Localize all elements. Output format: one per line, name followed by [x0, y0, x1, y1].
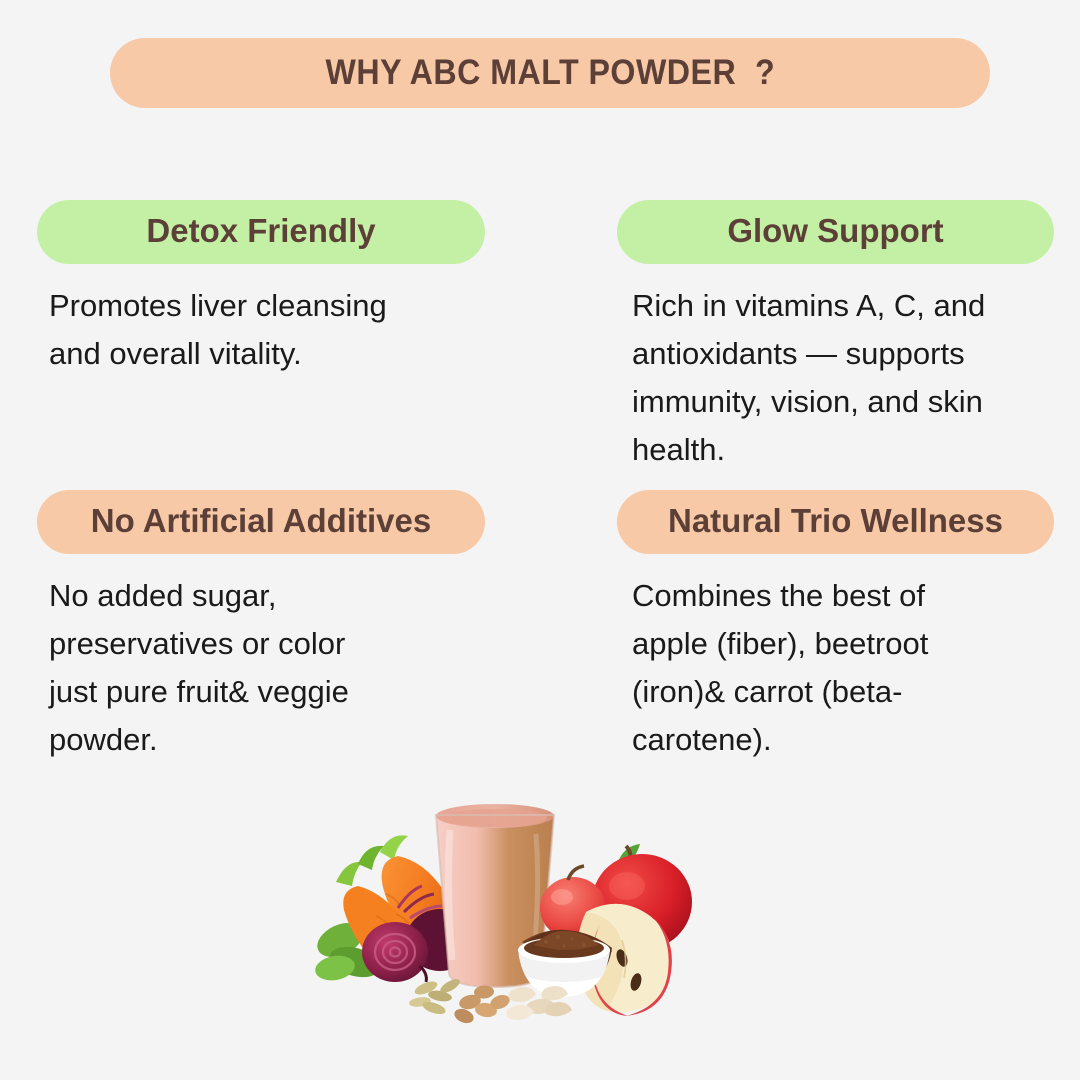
feature-card-natural-trio-wellness: Natural Trio Wellness Combines the best …	[617, 490, 1069, 764]
feature-card-detox-friendly: Detox Friendly Promotes liver cleansing …	[37, 200, 489, 378]
almonds-group	[452, 985, 511, 1026]
seeds-group	[408, 977, 461, 1017]
feature-card-no-artificial-additives: No Artificial Additives No added sugar, …	[37, 490, 489, 764]
feature-title-glow-support: Glow Support	[727, 212, 943, 249]
feature-pill-glow-support[interactable]: Glow Support	[617, 200, 1054, 264]
feature-title-no-artificial-additives: No Artificial Additives	[91, 502, 431, 539]
feature-title-natural-trio-wellness: Natural Trio Wellness	[668, 502, 1003, 539]
page-title: WHY ABC MALT POWDER ?	[325, 53, 775, 93]
feature-body-detox-friendly: Promotes liver cleansing and overall vit…	[37, 282, 479, 378]
feature-card-glow-support: Glow Support Rich in vitamins A, C, and …	[617, 200, 1069, 474]
feature-pill-natural-trio-wellness[interactable]: Natural Trio Wellness	[617, 490, 1054, 554]
header-banner: WHY ABC MALT POWDER ?	[110, 38, 990, 108]
feature-body-glow-support: Rich in vitamins A, C, and antioxidants …	[617, 282, 1062, 474]
feature-body-no-artificial-additives: No added sugar, preservatives or color j…	[37, 572, 479, 764]
feature-title-detox-friendly: Detox Friendly	[146, 212, 375, 249]
infographic-poster: WHY ABC MALT POWDER ? Detox Friendly Pro…	[0, 0, 1080, 1080]
feature-pill-no-artificial-additives[interactable]: No Artificial Additives	[37, 490, 485, 554]
feature-body-natural-trio-wellness: Combines the best of apple (fiber), beet…	[617, 572, 1062, 764]
feature-pill-detox-friendly[interactable]: Detox Friendly	[37, 200, 485, 264]
product-image	[300, 790, 780, 1050]
